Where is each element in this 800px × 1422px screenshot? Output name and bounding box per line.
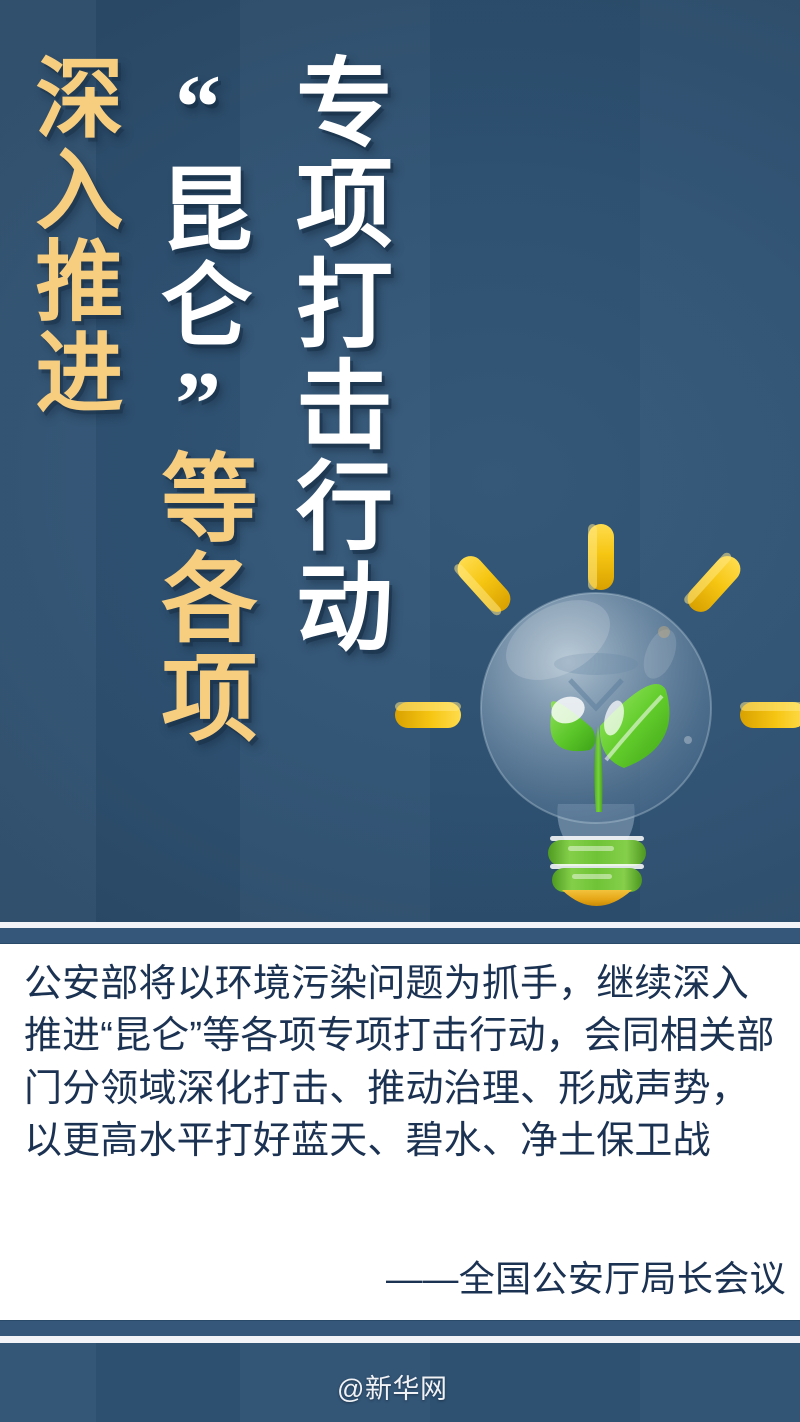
hero-section: 深入推进 “昆仑” 等各项 专项打击行动 [0, 0, 800, 922]
body-paragraph: 公安部将以环境污染问题为抓手，继续深入推进“昆仑”等各项专项打击行动，会同相关部… [24, 958, 780, 1168]
divider-top-blue-band [0, 928, 800, 944]
headline-column-right: 专项打击行动 [286, 52, 383, 657]
attribution-line: ——全国公安厅局长会议 [386, 1250, 786, 1302]
headline-column-middle-quoted: “昆仑” [152, 56, 244, 459]
divider-bottom-blue-band [0, 1320, 800, 1337]
headline-block: 深入推进 “昆仑” 等各项 专项打击行动 [0, 0, 420, 922]
headline-column-left: 深入推进 [26, 52, 114, 418]
lightbulb-icon [392, 512, 800, 922]
bulb-base [548, 836, 646, 906]
footer-bar: @新华网 [0, 1343, 800, 1422]
divider-bottom-white-line [0, 1336, 800, 1343]
lightbulb-illustration [392, 512, 800, 922]
source-watermark: @新华网 [337, 1367, 448, 1406]
headline-column-middle-lower: 等各项 [152, 448, 248, 748]
divider-top [0, 918, 800, 944]
body-panel: 公安部将以环境污染问题为抓手，继续深入推进“昆仑”等各项专项打击行动，会同相关部… [0, 944, 800, 1320]
poster-root: 深入推进 “昆仑” 等各项 专项打击行动 [0, 0, 800, 1422]
